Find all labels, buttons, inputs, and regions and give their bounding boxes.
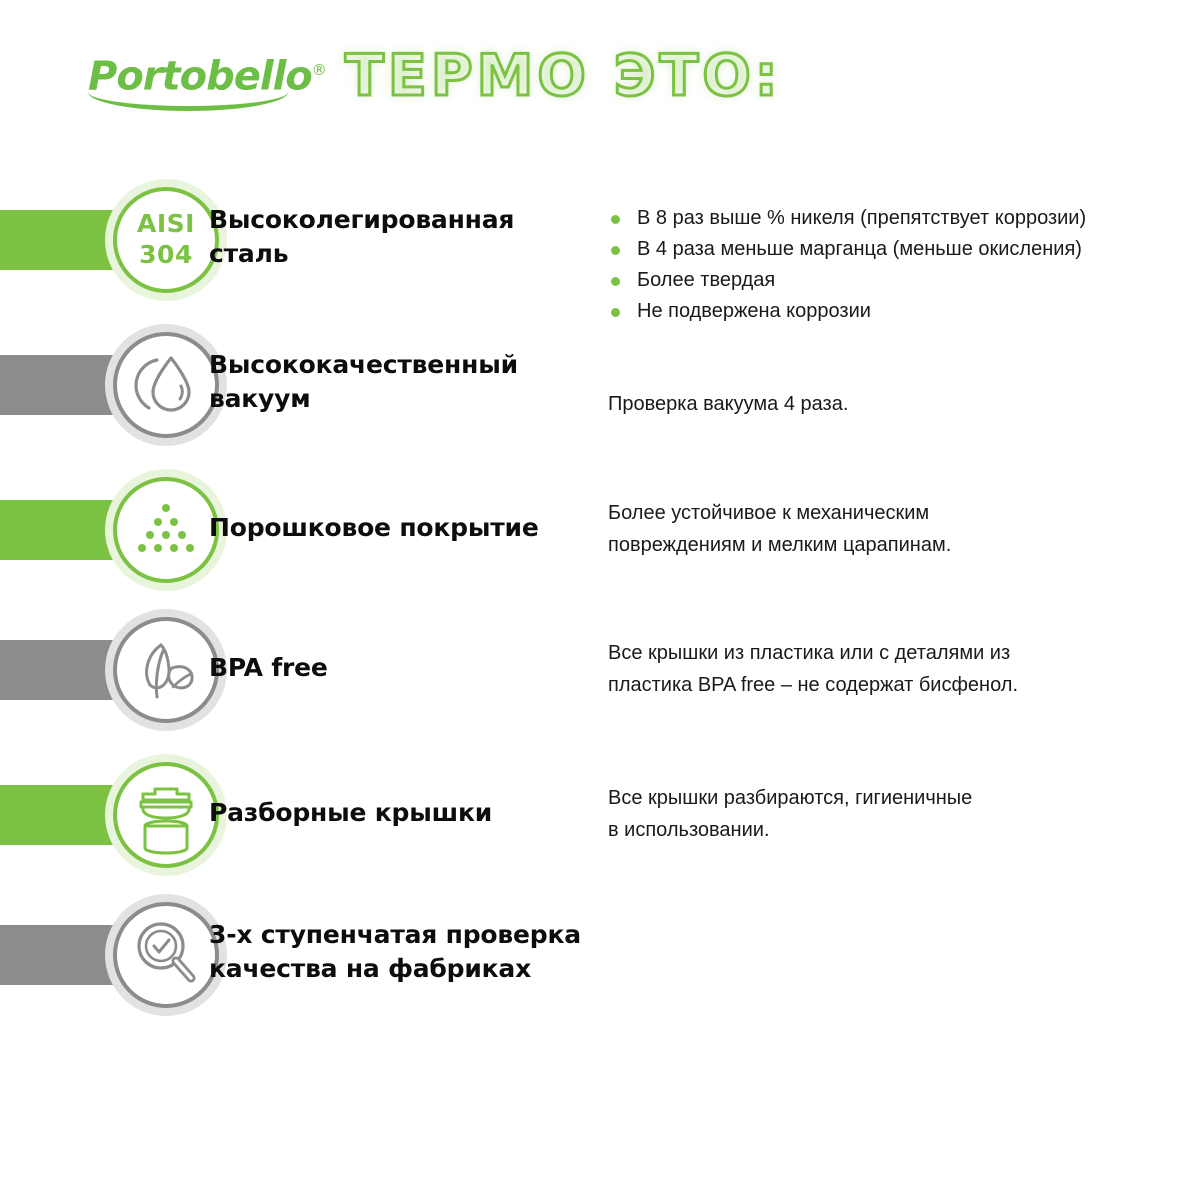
leaves-icon [117, 621, 215, 719]
magnifier-glyph [117, 906, 215, 1004]
water-drop-glyph [117, 336, 215, 434]
feature-description: Все крышки разбираются, гигиеничные в ис… [608, 782, 1188, 846]
feature-badge [113, 762, 219, 868]
logo-wordmark: Portobello® [88, 48, 308, 98]
lid-glyph [117, 766, 215, 864]
feature-title: Высоколегированная сталь [209, 203, 589, 271]
page-title: ТЕРМО ЭТО: [345, 45, 782, 107]
portobello-logo: Portobello® [88, 48, 308, 110]
feature-row-quality-check: 3-х ступенчатая проверка качества на фаб… [0, 880, 1200, 1030]
feature-badge [113, 477, 219, 583]
feature-row-lids: Разборные крышки Все крышки разбираются,… [0, 740, 1200, 890]
feature-badge [113, 332, 219, 438]
leaves-glyph [117, 621, 215, 719]
feature-title: Разборные крышки [209, 796, 589, 830]
feature-badge [113, 617, 219, 723]
magnifier-check-icon [117, 906, 215, 1004]
feature-bullet-list: В 8 раз выше % никеля (препятствует корр… [608, 203, 1200, 327]
aisi-line-2: 304 [117, 239, 215, 270]
feature-title: Порошковое покрытие [209, 511, 589, 545]
feature-row-vacuum: Высококачественный вакуум Проверка вакуу… [0, 310, 1200, 460]
lid-disassembled-icon [117, 766, 215, 864]
feature-row-bpa-free: BPA free Все крышки из пластика или с де… [0, 595, 1200, 745]
feature-title: 3-х ступенчатая проверка качества на фаб… [209, 918, 589, 986]
registered-trademark-icon: ® [312, 61, 326, 79]
list-item: В 8 раз выше % никеля (препятствует корр… [608, 203, 1200, 234]
logo-swoosh-icon [88, 92, 288, 111]
aisi-label: AISI 304 [117, 208, 215, 270]
list-item: В 4 раза меньше марганца (меньше окислен… [608, 234, 1200, 265]
feature-badge: AISI 304 [113, 187, 219, 293]
aisi-line-1: AISI [117, 208, 215, 239]
page-header: Portobello® ТЕРМО ЭТО: [0, 0, 1200, 160]
feature-description: Все крышки из пластика или с деталями из… [608, 637, 1188, 701]
feature-row-powder: Порошковое покрытие Более устойчивое к м… [0, 455, 1200, 605]
feature-title: BPA free [209, 651, 589, 685]
water-drop-icon [117, 336, 215, 434]
feature-row-steel: AISI 304 Высоколегированная сталь В 8 ра… [0, 165, 1200, 315]
powder-dots-glyph [117, 481, 215, 579]
feature-description: Проверка вакуума 4 раза. [608, 388, 1188, 420]
feature-description: Более устойчивое к механическим поврежде… [608, 497, 1188, 561]
feature-title: Высококачественный вакуум [209, 348, 589, 416]
aisi-304-badge-icon: AISI 304 [117, 191, 215, 289]
powder-dots-icon [117, 481, 215, 579]
list-item: Более твердая [608, 265, 1200, 296]
feature-badge [113, 902, 219, 1008]
